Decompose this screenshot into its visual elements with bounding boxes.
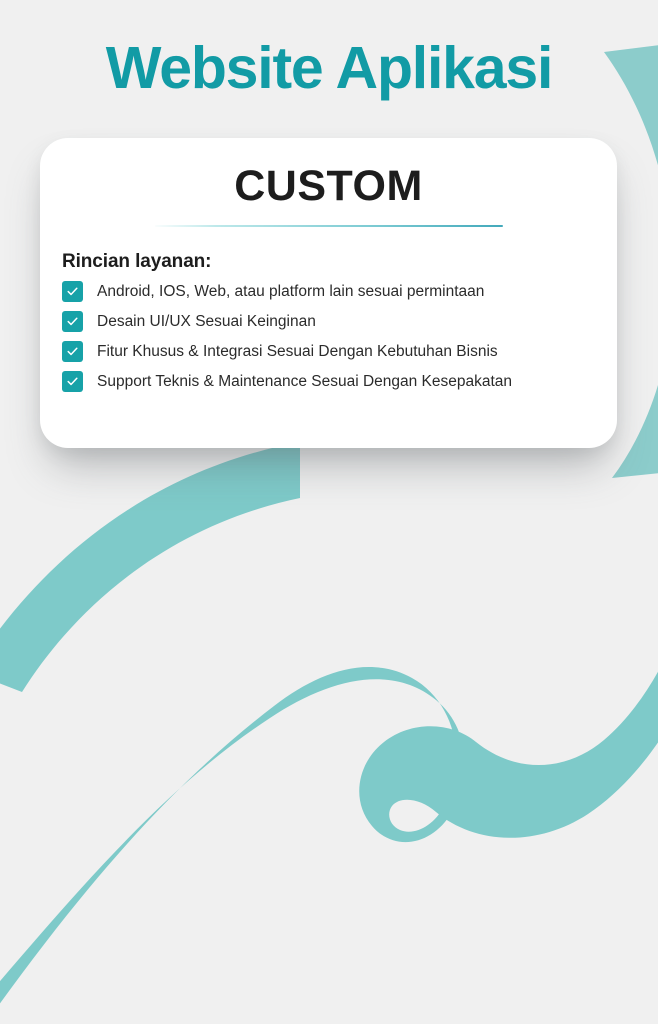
service-label: Fitur Khusus & Integrasi Sesuai Dengan K… [97, 342, 498, 361]
title-divider [155, 225, 503, 227]
checkmark-icon [62, 281, 83, 302]
upper-left-arc-shape [0, 442, 300, 692]
page-title: Website Aplikasi [0, 38, 658, 100]
checkmark-icon [62, 371, 83, 392]
service-card: CUSTOM Rincian layanan: Android, IOS, We… [40, 138, 617, 448]
loop-ribbon-shape [0, 600, 658, 1020]
list-item: Desain UI/UX Sesuai Keinginan [62, 311, 617, 332]
services-heading: Rincian layanan: [62, 251, 617, 273]
service-label: Android, IOS, Web, atau platform lain se… [97, 282, 484, 301]
list-item: Android, IOS, Web, atau platform lain se… [62, 281, 617, 302]
checkmark-icon [62, 341, 83, 362]
service-label: Desain UI/UX Sesuai Keinginan [97, 312, 316, 331]
list-item: Fitur Khusus & Integrasi Sesuai Dengan K… [62, 341, 617, 362]
list-item: Support Teknis & Maintenance Sesuai Deng… [62, 371, 617, 392]
checkmark-icon [62, 311, 83, 332]
card-title: CUSTOM [40, 162, 617, 211]
service-list: Android, IOS, Web, atau platform lain se… [40, 281, 617, 392]
service-label: Support Teknis & Maintenance Sesuai Deng… [97, 372, 512, 391]
